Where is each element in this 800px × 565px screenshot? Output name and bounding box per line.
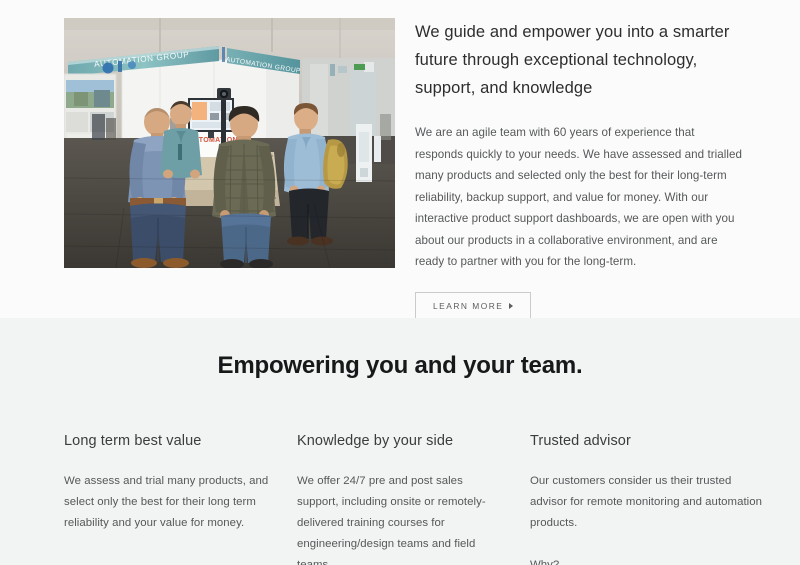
features-section: Empowering you and your team. Long term … bbox=[0, 318, 800, 565]
feature-columns: Long term best value We assess and trial… bbox=[64, 431, 744, 565]
hero-copy: We guide and empower you into a smarter … bbox=[415, 18, 744, 319]
landing-page: AUTOMATION GROUP AUTOMATION GROUP bbox=[0, 0, 800, 565]
feature-title: Knowledge by your side bbox=[297, 431, 502, 451]
features-title: Empowering you and your team. bbox=[0, 318, 800, 380]
feature-body: We assess and trial many products, and s… bbox=[64, 471, 269, 534]
feature-column-knowledge-by-your-side: Knowledge by your side We offer 24/7 pre… bbox=[297, 431, 530, 565]
learn-more-label: LEARN MORE bbox=[433, 302, 503, 310]
feature-body: We offer 24/7 pre and post sales support… bbox=[297, 471, 502, 565]
feature-title: Long term best value bbox=[64, 431, 269, 451]
feature-column-long-term-best-value: Long term best value We assess and trial… bbox=[64, 431, 297, 565]
feature-body: Our customers consider us their trusted … bbox=[530, 471, 763, 534]
hero-heading: We guide and empower you into a smarter … bbox=[415, 18, 744, 102]
tradeshow-booth-photo: AUTOMATION GROUP AUTOMATION GROUP bbox=[64, 18, 395, 268]
hero-section: AUTOMATION GROUP AUTOMATION GROUP bbox=[0, 0, 800, 318]
hero-inner: AUTOMATION GROUP AUTOMATION GROUP bbox=[64, 18, 744, 319]
arrow-right-icon bbox=[509, 303, 513, 309]
feature-body-extra: Why? bbox=[530, 555, 763, 565]
hero-paragraph: We are an agile team with 60 years of ex… bbox=[415, 122, 744, 273]
learn-more-button[interactable]: LEARN MORE bbox=[415, 292, 531, 319]
feature-column-trusted-advisor: Trusted advisor Our customers consider u… bbox=[530, 431, 763, 565]
feature-title: Trusted advisor bbox=[530, 431, 763, 451]
